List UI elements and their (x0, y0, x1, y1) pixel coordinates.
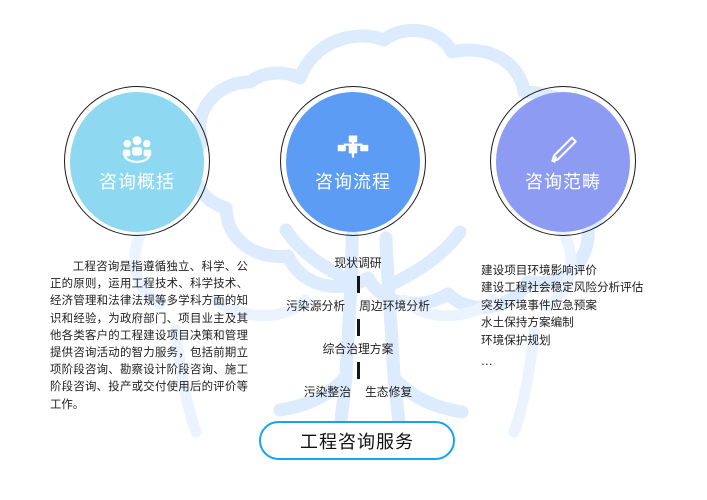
people-group-icon (120, 133, 154, 167)
list-item: 环境保护规划 (481, 332, 696, 349)
footer-title-pill: 工程咨询服务 (259, 421, 455, 460)
footer-title-label: 工程咨询服务 (300, 428, 414, 454)
diagram-canvas: 咨询概括 咨询流程 (0, 0, 707, 500)
flow-step-4a: 污染整治 (304, 385, 351, 399)
flow-connector (357, 276, 360, 293)
node-disc: 咨询概括 (70, 92, 204, 232)
list-item: 突发环境事件应急预案 (481, 297, 696, 314)
process-flow-block: 现状调研 污染源分析 周边环境分析 综合治理方案 污染整治 生态修复 (258, 256, 458, 400)
node-consult-scope[interactable]: 咨询范畴 (490, 88, 636, 234)
flow-connector (357, 319, 360, 336)
node-row: 咨询概括 咨询流程 (0, 88, 707, 234)
node-disc: 咨询流程 (286, 92, 420, 232)
list-item: 建设项目环境影响评价 (481, 262, 696, 279)
overview-text-block: 工程咨询是指遵循独立、科学、公正的原则，运用工程技术、科学技术、经济管理和法律法… (50, 258, 248, 413)
list-item-ellipsis: … (481, 349, 696, 370)
flow-step-2-row: 污染源分析 周边环境分析 (286, 299, 430, 313)
node-disc: 咨询范畴 (496, 92, 630, 232)
flow-step-1: 现状调研 (334, 256, 381, 270)
flow-step-2a: 污染源分析 (286, 299, 345, 313)
node-consult-process[interactable]: 咨询流程 (280, 88, 426, 234)
list-item: 建设工程社会稳定风险分析评估 (481, 279, 696, 296)
node-label: 咨询范畴 (525, 173, 601, 191)
node-label: 咨询概括 (99, 173, 175, 191)
node-label: 咨询流程 (315, 173, 391, 191)
flow-step-4b: 生态修复 (365, 385, 412, 399)
overview-paragraph: 工程咨询是指遵循独立、科学、公正的原则，运用工程技术、科学技术、经济管理和法律法… (50, 258, 248, 413)
flow-step-4-row: 污染整治 生态修复 (304, 385, 412, 399)
list-item: 水土保持方案编制 (481, 314, 696, 331)
flow-step-3: 综合治理方案 (323, 342, 394, 356)
node-consult-overview[interactable]: 咨询概括 (64, 88, 210, 234)
scope-list-block: 建设项目环境影响评价 建设工程社会稳定风险分析评估 突发环境事件应急预案 水土保… (481, 262, 696, 370)
flow-connector (357, 362, 360, 379)
flow-step-2b: 周边环境分析 (359, 299, 430, 313)
hierarchy-icon (336, 133, 370, 167)
pencil-icon (546, 133, 580, 167)
